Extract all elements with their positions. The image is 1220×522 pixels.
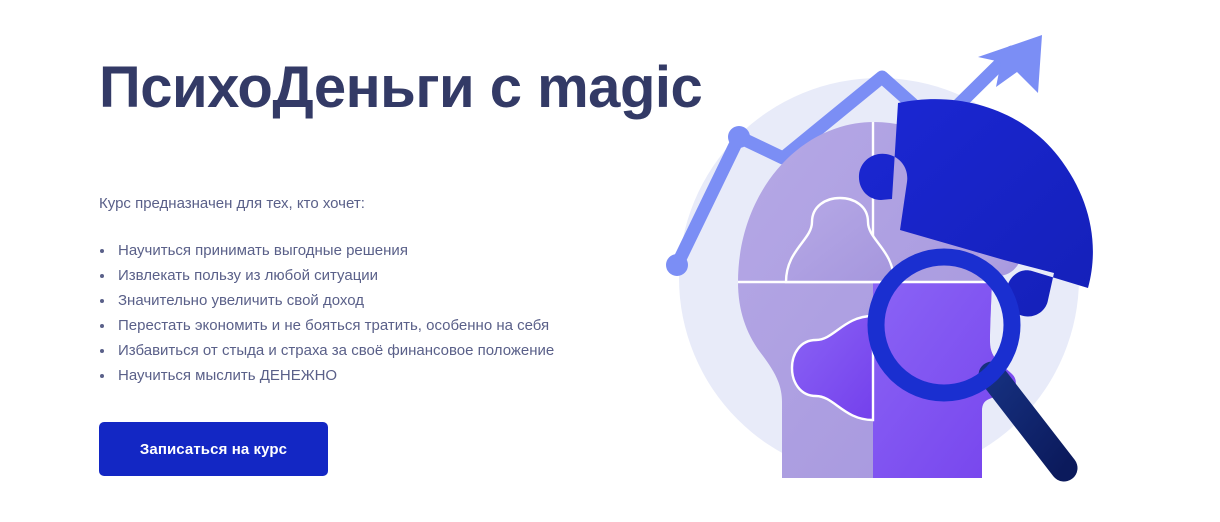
benefits-list: Научиться принимать выгодные решения Изв…	[99, 238, 554, 388]
list-item-label: Перестать экономить и не бояться тратить…	[118, 317, 549, 334]
bullet-dot-icon	[100, 324, 104, 328]
bullet-dot-icon	[100, 249, 104, 253]
list-item-label: Избавиться от стыда и страха за своё фин…	[118, 342, 554, 359]
enroll-course-button[interactable]: Записаться на курс	[99, 422, 328, 476]
list-item-label: Научиться мыслить ДЕНЕЖНО	[118, 367, 337, 384]
list-item: Перестать экономить и не бояться тратить…	[99, 313, 554, 338]
list-item: Избавиться от стыда и страха за своё фин…	[99, 338, 554, 363]
bullet-dot-icon	[100, 349, 104, 353]
bullet-dot-icon	[100, 299, 104, 303]
list-item: Научиться принимать выгодные решения	[99, 238, 554, 263]
list-item: Извлекать пользу из любой ситуации	[99, 263, 554, 288]
bullet-dot-icon	[100, 274, 104, 278]
list-item-label: Извлекать пользу из любой ситуации	[118, 267, 378, 284]
hero-lead-text: Курс предназначен для тех, кто хочет:	[99, 193, 365, 214]
page-title: ПсихоДеньги с magic	[99, 58, 702, 119]
hero-copy-column: ПсихоДеньги с magic Курс предназначен дл…	[99, 0, 659, 522]
bullet-dot-icon	[100, 374, 104, 378]
list-item-label: Значительно увеличить свой доход	[118, 292, 364, 309]
head-puzzle-growth-illustration	[660, 30, 1110, 510]
list-item: Значительно увеличить свой доход	[99, 288, 554, 313]
list-item: Научиться мыслить ДЕНЕЖНО	[99, 363, 554, 388]
hero-section: ПсихоДеньги с magic Курс предназначен дл…	[0, 0, 1220, 522]
list-item-label: Научиться принимать выгодные решения	[118, 242, 408, 259]
